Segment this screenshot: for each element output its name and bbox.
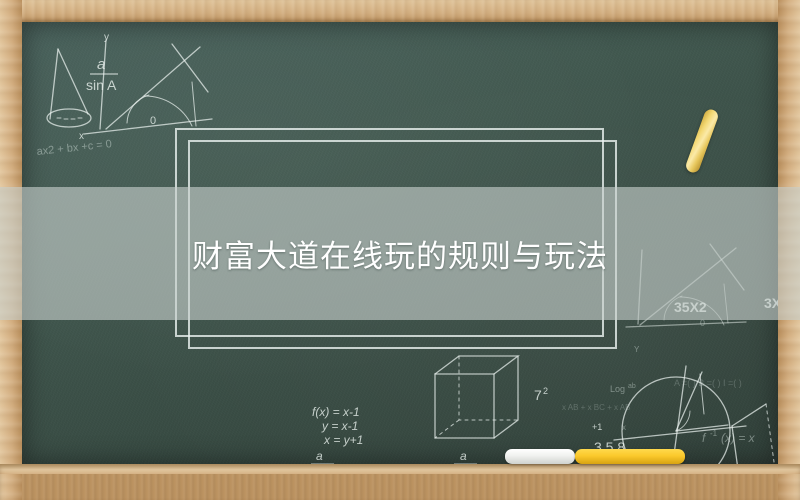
inverse-function-label: f -1 (x) = x <box>702 429 756 445</box>
svg-text:ab: ab <box>628 383 636 390</box>
svg-text:Log: Log <box>610 384 625 394</box>
svg-text:y = x-1: y = x-1 <box>321 419 358 433</box>
axis-label-x-bottomright: x <box>622 423 626 432</box>
quadratic-equation: ax2 + bx +c = 0 <box>36 138 112 158</box>
page-title: 财富大道在线玩的规则与玩法 <box>0 187 800 320</box>
chalk-ledge <box>0 464 800 500</box>
axis-label-Y-midright: Y <box>634 345 640 354</box>
cube-wireframe-right <box>732 404 778 464</box>
svg-text:sin A: sin A <box>86 77 117 93</box>
fraction-a-over-sinA-topleft: a sin A <box>86 56 118 93</box>
svg-text:f(x) = x-1: f(x) = x-1 <box>312 405 360 419</box>
yellow-chalk-on-ledge <box>575 449 685 464</box>
svg-text:f: f <box>702 431 707 445</box>
white-chalk-eraser <box>505 449 575 464</box>
svg-text:2: 2 <box>543 386 548 396</box>
cone-drawing <box>47 49 91 127</box>
exponent-7-squared: 7 2 <box>534 386 548 403</box>
svg-text:-1: -1 <box>710 429 718 438</box>
axis-label-x-topleft: x <box>79 131 84 142</box>
svg-text:a: a <box>460 449 467 463</box>
svg-text:+1: +1 <box>592 422 602 432</box>
function-equations-block: f(x) = x-1 y = x-1 x = y+1 <box>312 405 363 447</box>
fraction-a-over-sinA-left-bottom: a sin A <box>307 449 334 464</box>
yellow-chalk-stick-top-right <box>684 108 720 175</box>
axis-label-y-topleft: y <box>104 32 109 43</box>
frame-top-rail <box>0 0 800 22</box>
cube-wireframe-center <box>435 356 518 438</box>
matrix-notation-row: A =( ) B =( ) I =( ) <box>674 378 742 388</box>
svg-text:a: a <box>97 56 105 73</box>
svg-text:x = y+1: x = y+1 <box>323 433 363 447</box>
chalkboard-scene: a sin A y x 0 ax2 + bx +c = 0 35X2 3X2 Y… <box>0 0 800 500</box>
log-label: Log ab <box>610 383 636 394</box>
faint-geometry-row: x AB + x BC + x AB <box>562 403 630 412</box>
fraction-a-over-sinA-center-bottom: a sin A <box>450 449 477 464</box>
axes-angle-drawing-top-left <box>84 40 212 134</box>
angle-label-topleft: 0 <box>150 115 156 127</box>
svg-text:7: 7 <box>534 387 542 403</box>
svg-text:(x) = x: (x) = x <box>721 431 756 445</box>
svg-text:a: a <box>316 449 323 463</box>
